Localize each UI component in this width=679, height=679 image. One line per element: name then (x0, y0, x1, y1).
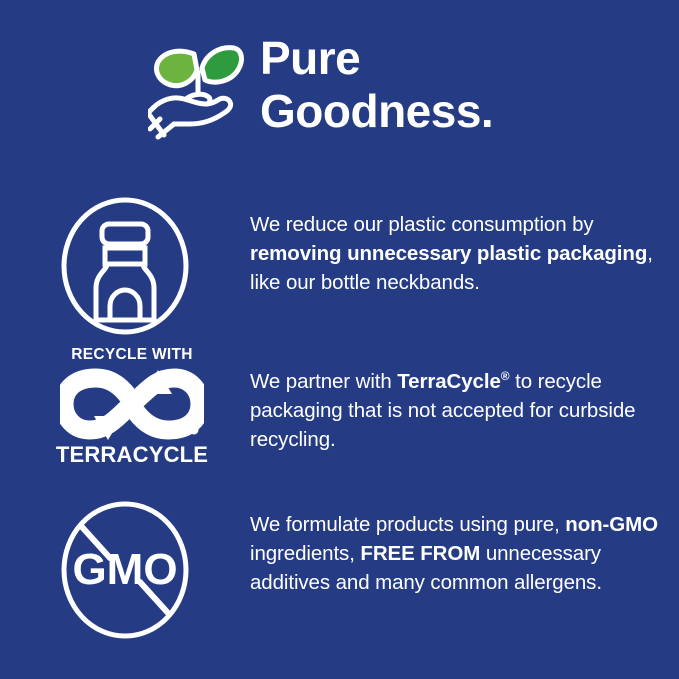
icon-cell-terracycle: RECYCLE WITH TERRACYCLE (0, 346, 250, 467)
feature-text-plastic-reduction: We reduce our plastic consumption by rem… (250, 196, 679, 297)
feature-row-plastic-reduction: We reduce our plastic consumption by rem… (0, 196, 679, 336)
feature-paragraph: We partner with TerraCycle® to recycle p… (250, 362, 669, 454)
bottle-in-circle-icon (60, 196, 190, 336)
feature-text-terracycle: We partner with TerraCycle® to recycle p… (250, 346, 679, 454)
header-lockup: Pure Goodness. (148, 32, 648, 152)
feature-row-terracycle: RECYCLE WITH TERRACYCLE (0, 346, 679, 467)
feature-paragraph: We reduce our plastic consumption by rem… (250, 210, 669, 297)
terracycle-top-label: RECYCLE WITH (71, 346, 193, 363)
recycle-infinity-loop-icon (60, 368, 204, 440)
pure-goodness-infographic: Pure Goodness. We reduce ou (0, 0, 679, 679)
page-title-line-1: Pure (260, 32, 360, 84)
hand-holding-seedling-icon (148, 36, 252, 146)
terracycle-logo: RECYCLE WITH TERRACYCLE (60, 346, 204, 467)
icon-cell-gmo: GMO (0, 500, 250, 640)
page-title: Pure Goodness. (260, 32, 493, 138)
feature-text-non-gmo: We formulate products using pure, non-GM… (250, 500, 679, 597)
no-gmo-icon: GMO (60, 500, 190, 640)
page-title-line-2: Goodness. (260, 85, 493, 138)
gmo-label: GMO (72, 545, 177, 594)
feature-row-non-gmo: GMO We formulate products using pure, no… (0, 500, 679, 640)
feature-paragraph: We formulate products using pure, non-GM… (250, 510, 669, 597)
icon-cell-bottle (0, 196, 250, 336)
terracycle-bottom-label: TERRACYCLE (56, 443, 208, 467)
